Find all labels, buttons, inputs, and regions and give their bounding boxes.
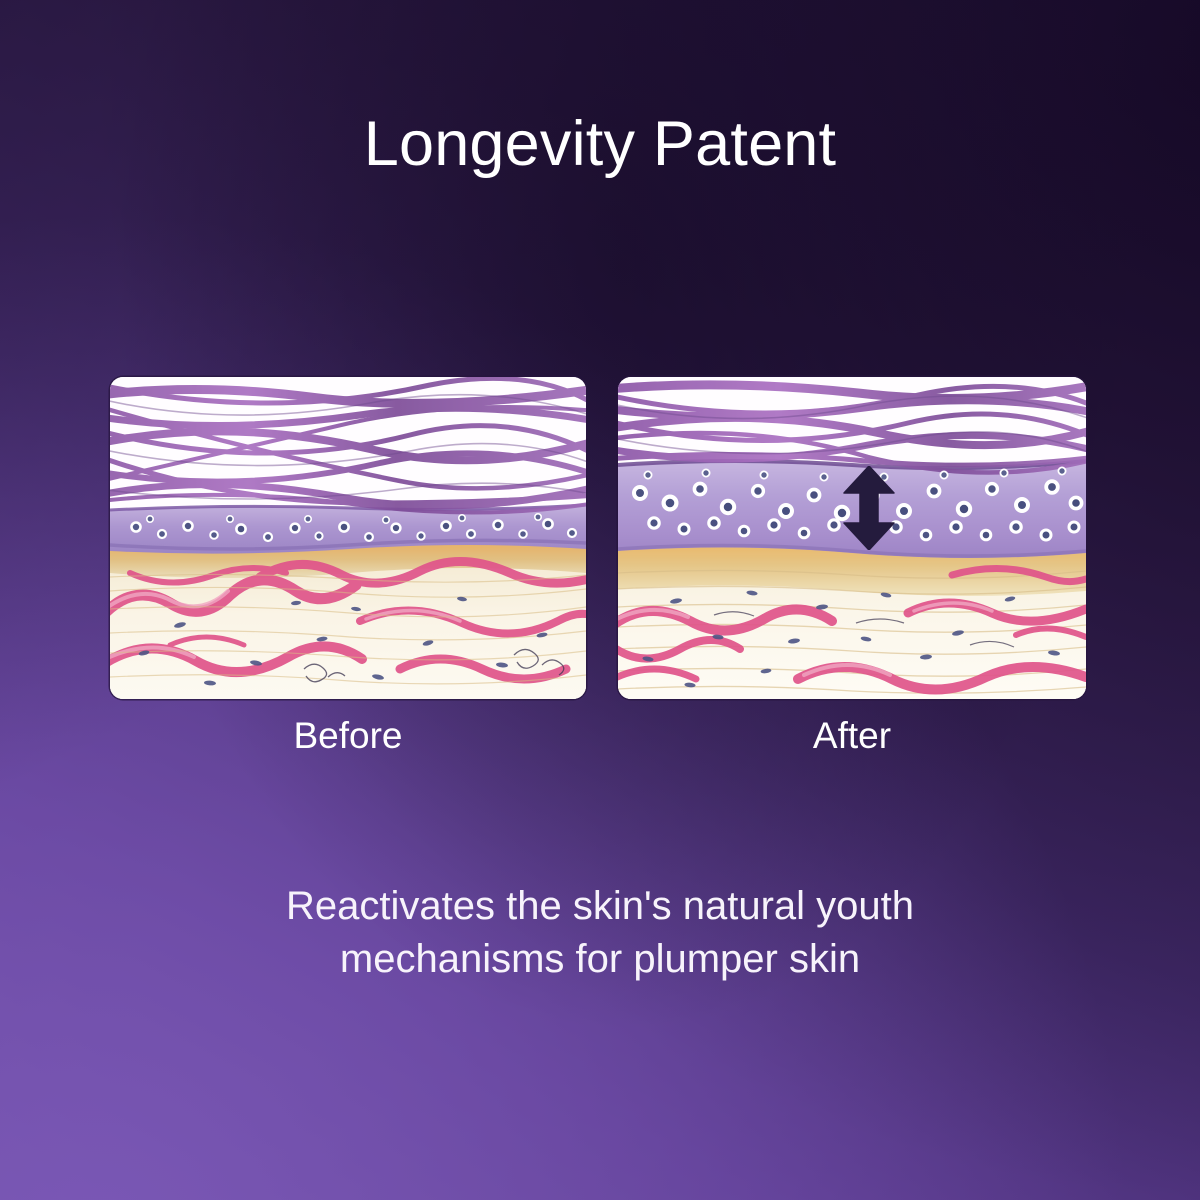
before-after-comparison xyxy=(110,377,1086,699)
caption-after: After xyxy=(618,715,1086,757)
subtitle: Reactivates the skin's natural youth mec… xyxy=(150,880,1050,986)
subtitle-line-2: mechanisms for plumper skin xyxy=(150,933,1050,986)
longevity-patent-slide: Longevity Patent xyxy=(0,0,1200,1200)
double-headed-vertical-arrow-icon xyxy=(842,466,896,550)
panel-before[interactable] xyxy=(110,377,586,699)
subtitle-line-1: Reactivates the skin's natural youth xyxy=(150,880,1050,933)
histology-image-before xyxy=(110,377,586,699)
epidermal-thickness-arrow xyxy=(842,466,896,550)
page-title: Longevity Patent xyxy=(0,108,1200,180)
caption-before: Before xyxy=(110,715,586,757)
histology-svg-before xyxy=(110,377,586,699)
